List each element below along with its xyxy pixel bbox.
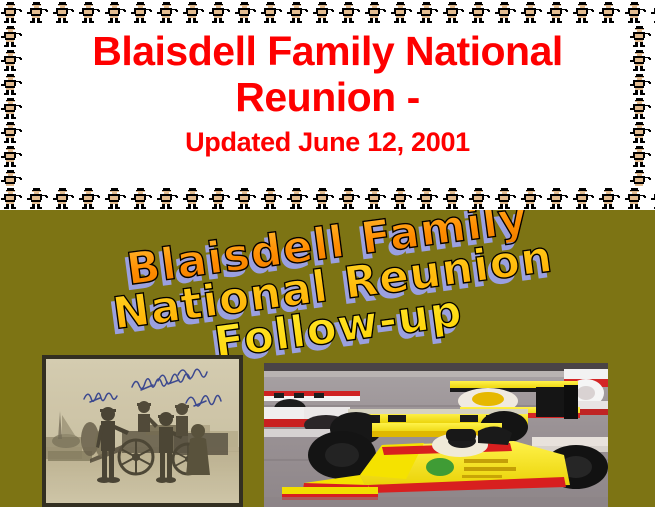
clipart-figure-icon — [629, 24, 655, 48]
clipart-figure-icon — [312, 0, 338, 24]
clipart-figure-icon — [52, 0, 78, 24]
clipart-figure-icon — [0, 168, 26, 186]
header-banner: Blaisdell Family National Reunion - Upda… — [0, 0, 655, 210]
clipart-figure-icon — [546, 186, 572, 210]
clipart-figure-icon — [624, 186, 650, 210]
clipart-figure-icon — [442, 0, 468, 24]
clipart-figure-icon — [208, 186, 234, 210]
race-photo-image — [264, 363, 608, 507]
clipart-figure-icon — [0, 48, 26, 72]
clipart-figure-icon — [78, 0, 104, 24]
clipart-figure-icon — [629, 48, 655, 72]
clipart-figure-icon — [494, 186, 520, 210]
clipart-figure-icon — [416, 0, 442, 24]
wordart-line-2-shadow: National Reunion — [74, 236, 585, 346]
clipart-figure-icon — [364, 0, 390, 24]
clipart-figure-icon — [390, 0, 416, 24]
clipart-figure-icon — [572, 186, 598, 210]
clipart-figure-icon — [364, 186, 390, 210]
clipart-figure-icon — [0, 144, 26, 168]
clipart-figure-icon — [286, 0, 312, 24]
body-panel: Blaisdell Family Blaisdell Family Nation… — [0, 210, 655, 507]
decorative-border-bottom — [0, 186, 655, 210]
clipart-figure-icon — [442, 186, 468, 210]
clipart-figure-icon — [520, 0, 546, 24]
clipart-figure-icon — [260, 0, 286, 24]
clipart-figure-icon — [629, 144, 655, 168]
clipart-figure-icon — [104, 0, 130, 24]
clipart-figure-icon — [104, 186, 130, 210]
clipart-figure-icon — [260, 186, 286, 210]
clipart-figure-icon — [338, 186, 364, 210]
clipart-figure-icon — [0, 72, 26, 96]
clipart-figure-icon — [629, 168, 655, 186]
decorative-border-right — [629, 24, 655, 186]
decorative-border-top — [0, 0, 655, 24]
clipart-figure-icon — [208, 0, 234, 24]
wordart-line-1: Blaisdell Family Blaisdell Family — [72, 210, 583, 299]
clipart-figure-icon — [629, 120, 655, 144]
historic-photo-image — [46, 359, 239, 503]
clipart-figure-icon — [0, 96, 26, 120]
last-updated-text: Updated June 12, 2001 — [185, 126, 470, 158]
clipart-figure-icon — [52, 186, 78, 210]
clipart-figure-icon — [572, 0, 598, 24]
clipart-figure-icon — [26, 186, 52, 210]
clipart-figure-icon — [182, 0, 208, 24]
clipart-figure-icon — [494, 0, 520, 24]
clipart-figure-icon — [338, 0, 364, 24]
clipart-figure-icon — [390, 186, 416, 210]
clipart-figure-icon — [629, 72, 655, 96]
clipart-figure-icon — [130, 0, 156, 24]
wordart-line-1-face: Blaisdell Family — [72, 210, 583, 299]
clipart-figure-icon — [26, 0, 52, 24]
clipart-figure-icon — [312, 186, 338, 210]
clipart-figure-icon — [629, 96, 655, 120]
clipart-figure-icon — [182, 186, 208, 210]
clipart-figure-icon — [416, 186, 442, 210]
wordart-line-2-face: National Reunion — [77, 231, 588, 341]
clipart-figure-icon — [130, 186, 156, 210]
clipart-figure-icon — [598, 186, 624, 210]
clipart-figure-icon — [0, 24, 26, 48]
clipart-figure-icon — [598, 0, 624, 24]
clipart-figure-icon — [234, 0, 260, 24]
clipart-figure-icon — [156, 186, 182, 210]
clipart-figure-icon — [78, 186, 104, 210]
clipart-figure-icon — [650, 0, 655, 24]
clipart-figure-icon — [468, 0, 494, 24]
header-text-zone: Blaisdell Family National Reunion - Upda… — [28, 24, 627, 186]
clipart-figure-icon — [650, 186, 655, 210]
historic-sepia-photograph — [42, 355, 243, 507]
page-title-line-1: Blaisdell Family National — [92, 28, 563, 74]
wordart-line-1-shadow: Blaisdell Family — [68, 210, 579, 305]
wordart-line-2: National Reunion National Reunion — [77, 231, 588, 341]
clipart-figure-icon — [468, 186, 494, 210]
clipart-figure-icon — [546, 0, 572, 24]
clipart-figure-icon — [234, 186, 260, 210]
clipart-figure-icon — [286, 186, 312, 210]
clipart-figure-icon — [156, 0, 182, 24]
race-cars-photograph — [264, 363, 608, 507]
page-title-line-2: Reunion - — [235, 74, 420, 120]
decorative-border-left — [0, 24, 26, 186]
clipart-figure-icon — [0, 0, 26, 24]
clipart-figure-icon — [624, 0, 650, 24]
page-root: Blaisdell Family National Reunion - Upda… — [0, 0, 655, 507]
clipart-figure-icon — [0, 186, 26, 210]
clipart-figure-icon — [0, 120, 26, 144]
clipart-figure-icon — [520, 186, 546, 210]
